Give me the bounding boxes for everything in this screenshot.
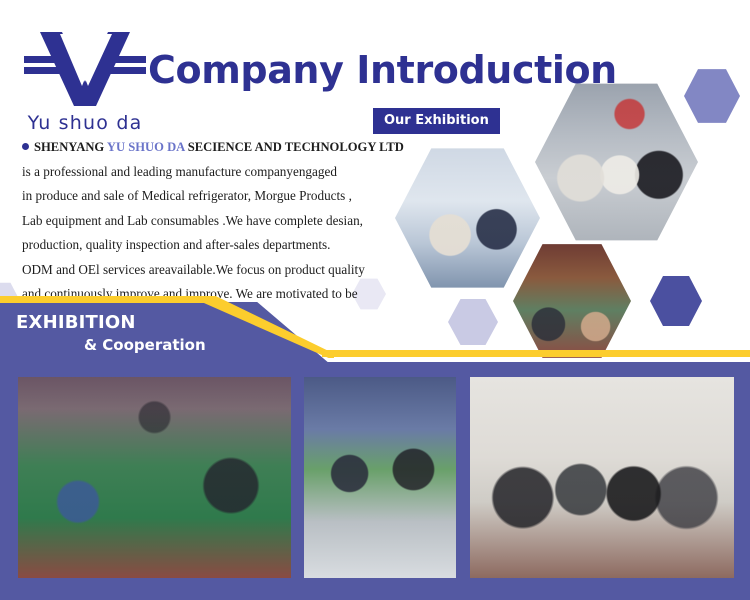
page-title: Company Introduction bbox=[148, 48, 617, 92]
photo-hex-booth-demo-image bbox=[395, 147, 540, 289]
photo-hex-team-portrait bbox=[535, 82, 698, 242]
intro-lead-prefix: SHENYANG bbox=[34, 140, 107, 154]
intro-lead-suffix: SECIENCE AND TECHNOLOGY LTD bbox=[185, 140, 404, 154]
banner-slope-block bbox=[200, 302, 330, 364]
company-logo: Yu shuo da bbox=[24, 30, 146, 140]
photo-hex-booth-demo bbox=[395, 147, 540, 289]
bullet-dot-icon bbox=[22, 143, 29, 150]
photo-hex-team-portrait-image bbox=[535, 82, 698, 242]
intro-line: in produce and sale of Medical refrigera… bbox=[22, 187, 402, 206]
intro-line: production, quality inspection and after… bbox=[22, 236, 402, 255]
photo-team-group-image bbox=[470, 377, 734, 578]
banner-title: EXHIBITION bbox=[16, 312, 136, 333]
photo-trade-fair-table-image bbox=[18, 377, 291, 578]
photo-booth-discussion-image bbox=[304, 377, 456, 578]
intro-line: Lab equipment and Lab consumables .We ha… bbox=[22, 212, 402, 231]
intro-lead-highlight: YU SHUO DA bbox=[107, 140, 185, 154]
intro-line: is a professional and leading manufactur… bbox=[22, 163, 402, 182]
logo-wordmark: Yu shuo da bbox=[24, 112, 146, 134]
photo-team-group bbox=[470, 377, 734, 578]
banner-rule-bottom bbox=[322, 350, 750, 357]
our-exhibition-badge: Our Exhibition bbox=[373, 108, 500, 134]
photo-trade-fair-table bbox=[18, 377, 291, 578]
decor-hex-top-right bbox=[684, 68, 740, 124]
company-introduction-slide: Yu shuo da Company Introduction Our Exhi… bbox=[0, 0, 750, 600]
yushuoda-y-logo-icon bbox=[24, 30, 146, 106]
banner-rule-top bbox=[0, 296, 205, 303]
exhibition-banner: EXHIBITION & Cooperation bbox=[0, 296, 750, 364]
photo-booth-discussion bbox=[304, 377, 456, 578]
intro-line: ODM and OEl services areavailable.We foc… bbox=[22, 261, 402, 280]
banner-subtitle: & Cooperation bbox=[84, 336, 206, 354]
intro-lead-line: SHENYANG YU SHUO DA SECIENCE AND TECHNOL… bbox=[22, 138, 402, 157]
